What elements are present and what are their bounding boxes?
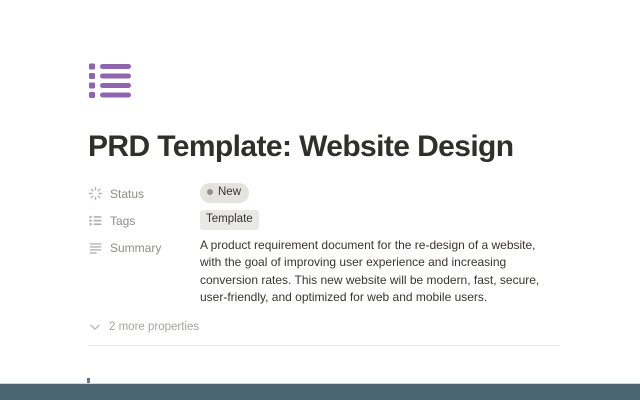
horizontal-scrollbar-track[interactable] [0, 383, 640, 400]
property-value-tags[interactable]: Template [200, 208, 566, 234]
property-label-text-status: Status [110, 187, 144, 201]
property-label-tags[interactable]: Tags [88, 208, 200, 233]
chevron-down-icon [88, 320, 102, 334]
multi-select-list-icon [88, 213, 103, 228]
document-content: PRD Template: Website Design [0, 0, 566, 383]
page-title[interactable]: PRD Template: Website Design [88, 130, 566, 165]
text-lines-icon [88, 240, 103, 255]
property-value-status[interactable]: New [200, 181, 566, 207]
tag-chip[interactable]: Template [200, 210, 259, 230]
properties-divider [88, 345, 560, 346]
properties-panel: Status New [88, 181, 566, 307]
status-badge[interactable]: New [200, 183, 249, 203]
property-label-summary[interactable]: Summary [88, 235, 200, 260]
status-dot-icon [207, 189, 213, 195]
property-value-summary[interactable]: A product requirement document for the r… [200, 235, 566, 307]
bulleted-list-icon[interactable] [88, 62, 132, 100]
property-label-text-summary: Summary [110, 241, 161, 255]
more-properties-toggle[interactable]: 2 more properties [88, 317, 566, 337]
property-row-tags[interactable]: Tags Template [88, 208, 566, 234]
spinner-status-icon [88, 186, 103, 201]
property-row-status[interactable]: Status New [88, 181, 566, 207]
document-page: PRD Template: Website Design [0, 0, 640, 383]
property-label-status[interactable]: Status [88, 181, 200, 206]
more-properties-label: 2 more properties [109, 321, 199, 333]
summary-text[interactable]: A product requirement document for the r… [200, 237, 556, 307]
property-row-summary[interactable]: Summary A product requirement document f… [88, 235, 566, 307]
property-label-text-tags: Tags [110, 214, 135, 228]
status-badge-label: New [218, 185, 241, 200]
